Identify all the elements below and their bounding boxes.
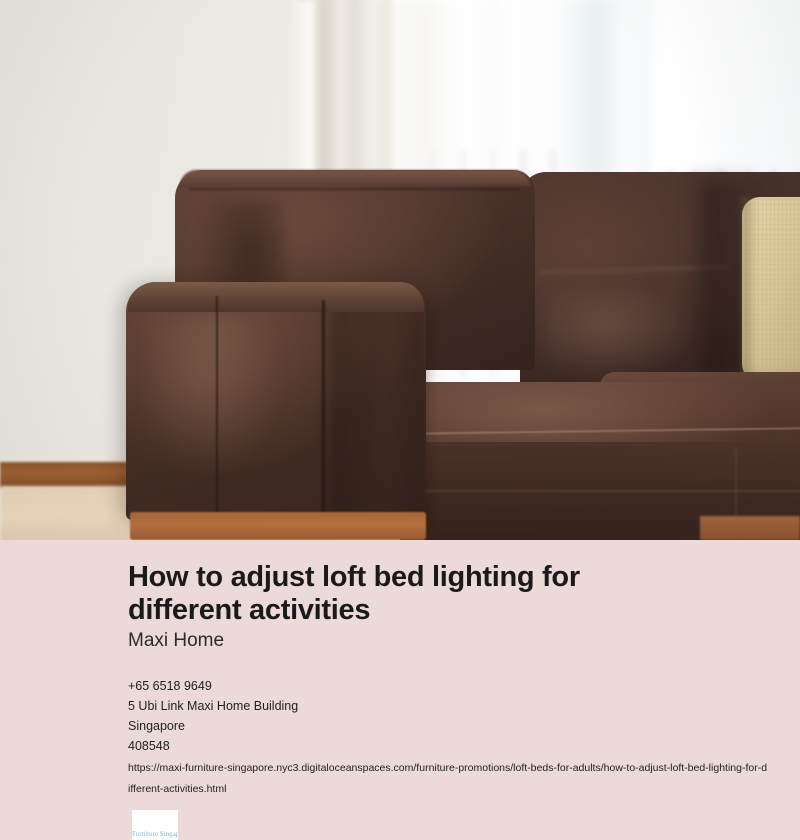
page-title: How to adjust loft bed lighting for diff… xyxy=(128,561,688,627)
contact-phone[interactable]: +65 6518 9649 xyxy=(128,676,778,696)
sofa-front-stitching xyxy=(405,490,800,492)
page-url[interactable]: https://maxi-furniture-singapore.nyc3.di… xyxy=(128,758,768,800)
page-root: How to adjust loft bed lighting for diff… xyxy=(0,0,800,840)
contact-postal-code: 408548 xyxy=(128,736,778,756)
contact-address: 5 Ubi Link Maxi Home Building xyxy=(128,696,778,716)
brand-name: Maxi Home xyxy=(128,630,224,652)
sofa-backrest-right-highlight xyxy=(545,290,695,380)
armrest-top-surface xyxy=(128,282,424,312)
armrest-seam-right xyxy=(322,300,325,520)
throw-pillow-edge-shadow xyxy=(742,197,756,385)
hero-photo xyxy=(0,0,800,540)
brand-logo[interactable]: Furniture Singap xyxy=(132,810,178,840)
sofa-wooden-base-right xyxy=(700,516,800,540)
content-panel: How to adjust loft bed lighting for diff… xyxy=(0,540,800,840)
armrest-seam-left xyxy=(216,296,218,520)
sofa-backrest-left-seam xyxy=(190,188,520,190)
sofa-backrest-left-top xyxy=(180,170,530,186)
armrest-inner-shadow xyxy=(330,300,426,520)
contact-details: +65 6518 9649 5 Ubi Link Maxi Home Build… xyxy=(128,676,778,756)
brand-logo-caption: Furniture Singap xyxy=(132,830,178,839)
sofa-wooden-base-left xyxy=(130,512,426,540)
contact-country: Singapore xyxy=(128,716,778,736)
armrest-highlight xyxy=(150,320,280,470)
